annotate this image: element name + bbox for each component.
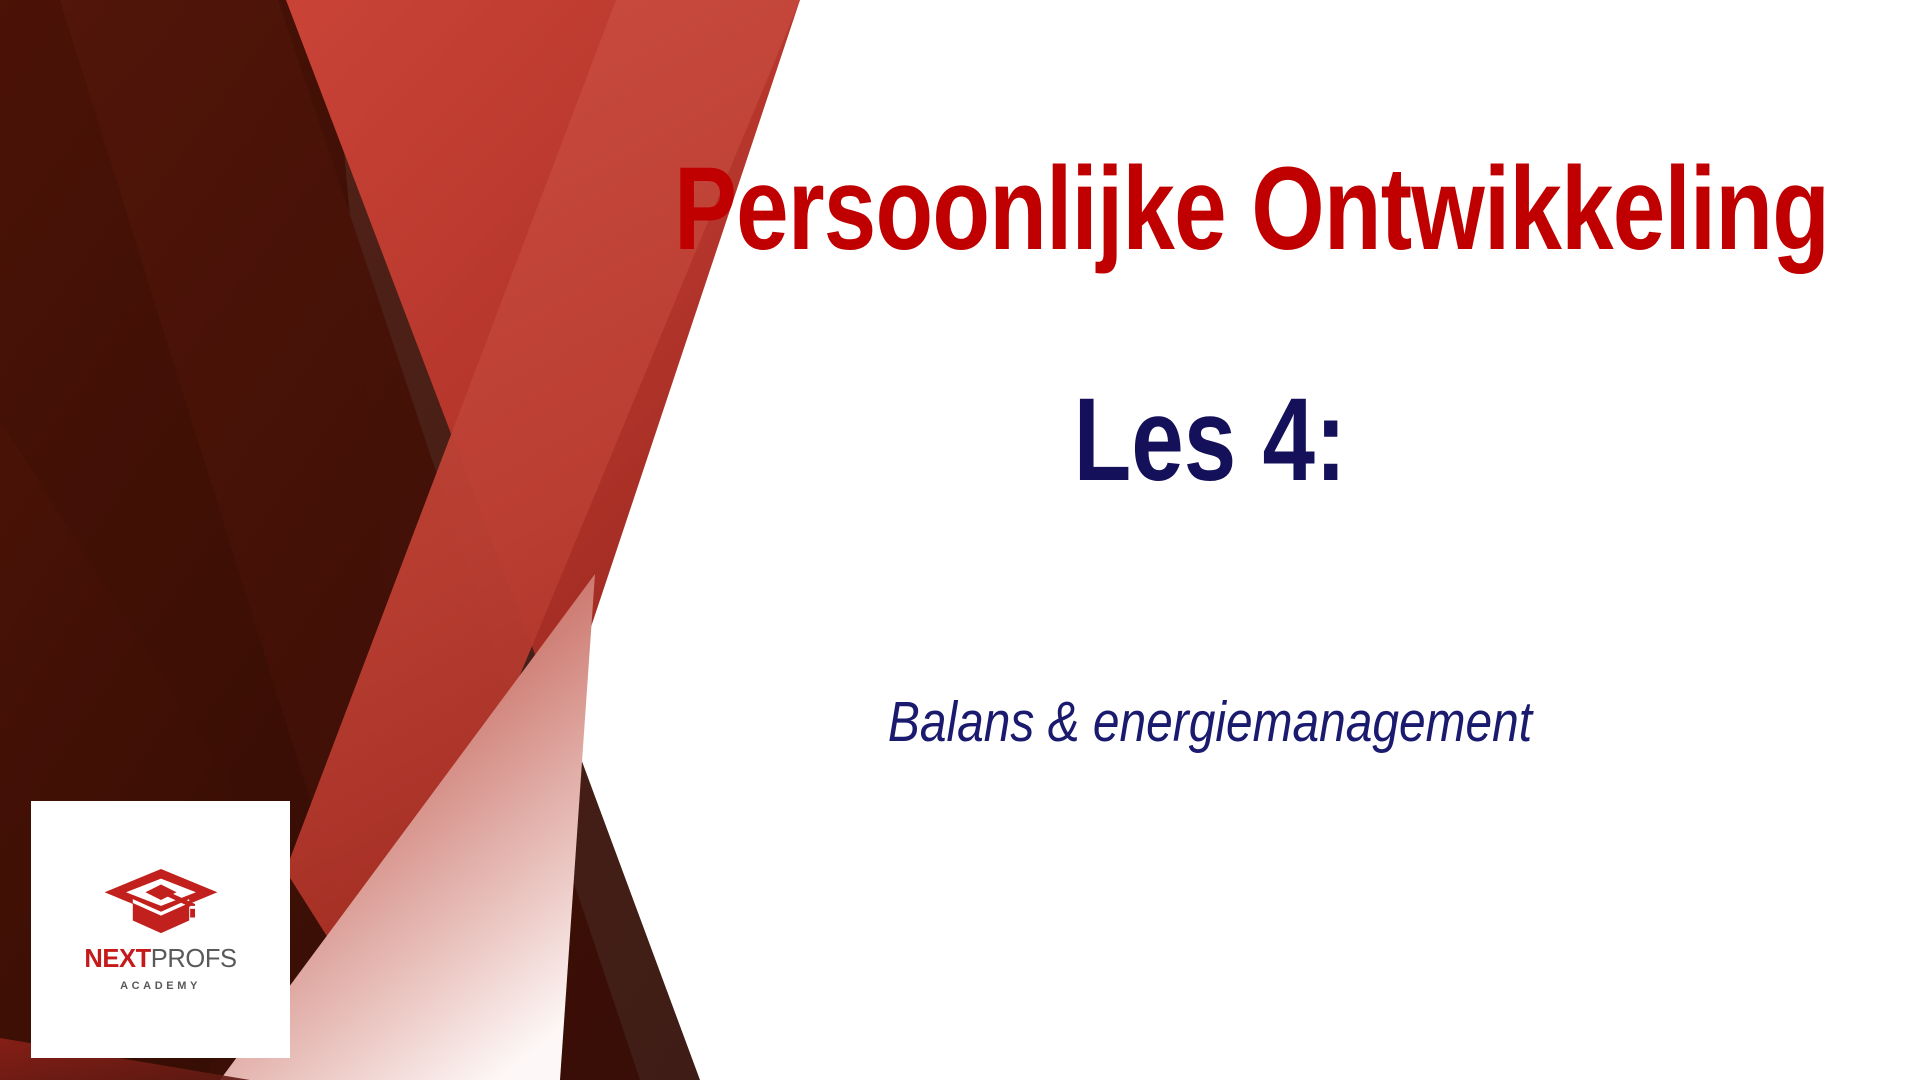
page-title: Persoonlijke Ontwikkeling: [674, 148, 1746, 272]
logo-tagline: ACADEMY: [120, 980, 201, 992]
logo-word-next: NEXT: [84, 945, 150, 973]
logo-word-profs: PROFS: [151, 945, 237, 973]
lesson-subtitle: Balans & energiemanagement: [647, 688, 1773, 756]
presentation-slide: Persoonlijke Ontwikkeling Les 4: Balans …: [0, 0, 1920, 1080]
logo-card: NEXTPROFS ACADEMY: [31, 801, 290, 1058]
slide-text-block: Persoonlijke Ontwikkeling Les 4: Balans …: [540, 0, 1880, 1080]
graduation-cap-icon: [102, 867, 220, 937]
lesson-number-heading: Les 4:: [674, 374, 1746, 506]
logo-wordmark: NEXTPROFS: [84, 947, 236, 973]
